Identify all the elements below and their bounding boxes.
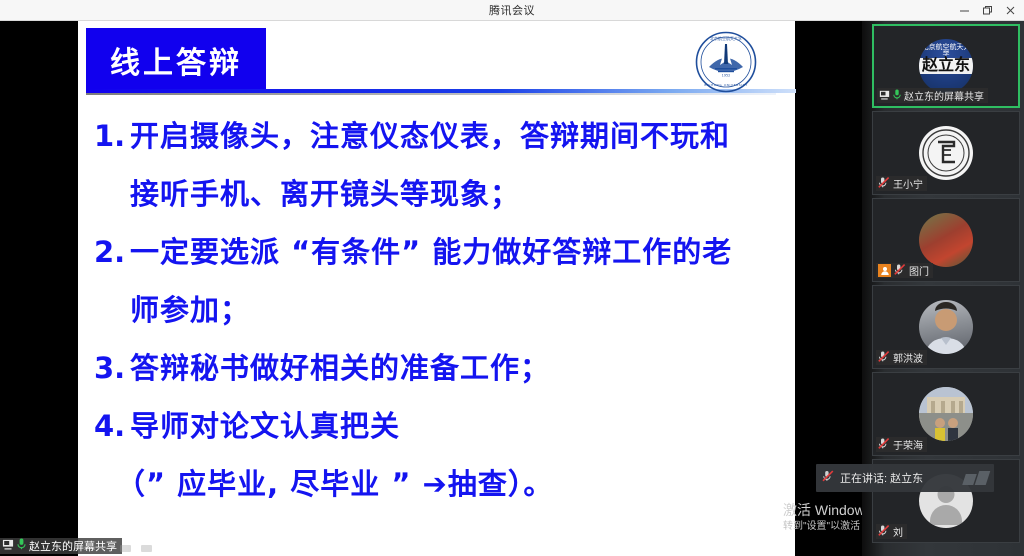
participant-name: 赵立东的屏幕共享 <box>904 88 984 103</box>
list-item-continuation: 接听手机、离开镜头等现象； <box>94 165 794 223</box>
list-item-continuation: 师参加； <box>94 281 794 339</box>
screen-share-label: 赵立东的屏幕共享 <box>0 538 122 554</box>
watermark-line-2: 转到"设置"以激活 Windows。 <box>783 519 862 534</box>
list-item-text: 开启摄像头，注意仪态仪表，答辩期间不玩和 <box>130 107 794 165</box>
list-item: 1. 开启摄像头，注意仪态仪表，答辩期间不玩和 <box>94 107 794 165</box>
list-item-number: 4. <box>94 397 130 455</box>
speaking-indicator-text: 正在讲话: 赵立东 <box>840 470 923 486</box>
audio-wave-icon <box>964 471 988 485</box>
window-title-bar: 腾讯会议 <box>0 0 1024 21</box>
participant-tile-wang-xiaoning[interactable]: 王小宁 <box>872 111 1020 195</box>
svg-text:北京航空航天大学: 北京航空航天大学 <box>710 35 742 41</box>
participant-name: 刘 <box>893 524 903 539</box>
window-title: 腾讯会议 <box>489 2 535 18</box>
mic-muted-icon <box>822 469 834 487</box>
participant-footer: 赵立东的屏幕共享 <box>877 88 988 103</box>
slide-closing-line: （” 应毕业, 尽毕业 ” ➔抽查）。 <box>94 455 794 513</box>
toolbar-ghost-item <box>141 545 152 552</box>
slide-body-list: 1. 开启摄像头，注意仪态仪表，答辩期间不玩和 接听手机、离开镜头等现象； 2.… <box>94 107 794 513</box>
toolbar-ghost-item <box>120 545 131 552</box>
slide-title: 线上答辩 <box>110 38 242 82</box>
avatar <box>919 387 973 441</box>
window-controls <box>953 0 1022 21</box>
participant-tile-yu-ronghai[interactable]: 于荣海 <box>872 372 1020 456</box>
slide-divider-shadow <box>86 93 776 95</box>
participant-footer: 于荣海 <box>876 437 927 452</box>
screen-share-owner-name: 赵立东的屏幕共享 <box>29 538 117 554</box>
minimize-button[interactable] <box>953 0 976 21</box>
participant-footer: 郭洪波 <box>876 350 927 365</box>
portrait-photo <box>919 300 973 354</box>
beihang-university-logo-icon: 1952 北京航空航天大学 BEIHANG UNIVERSITY <box>695 31 757 93</box>
close-button[interactable] <box>999 0 1022 21</box>
host-person-icon <box>880 266 890 276</box>
participant-tile-guo-hongbo[interactable]: 郭洪波 <box>872 285 1020 369</box>
mic-muted-icon <box>878 436 890 454</box>
avatar <box>919 213 973 267</box>
meeting-stage: 线上答辩 1952 北京航空航天大学 BEIHANG UNIVERSITY <box>0 21 1024 556</box>
list-item-number: 3. <box>94 339 130 397</box>
mic-muted-icon <box>878 349 890 367</box>
screen-share-icon <box>2 537 14 555</box>
participant-footer: 刘 <box>876 524 907 539</box>
restore-button[interactable] <box>976 0 999 21</box>
host-badge <box>878 264 891 277</box>
list-item: 2. 一定要选派 “有条件” 能力做好答辩工作的老 <box>94 223 794 281</box>
close-icon <box>1005 5 1016 16</box>
avatar <box>919 126 973 180</box>
windows-activation-watermark: 激活 Windows 转到"设置"以激活 Windows。 <box>783 501 862 534</box>
svg-text:BEIHANG UNIVERSITY: BEIHANG UNIVERSITY <box>704 83 747 87</box>
minimize-icon <box>959 5 970 16</box>
mic-muted-icon <box>894 262 906 280</box>
speaking-indicator-toast: 正在讲话: 赵立东 <box>816 464 994 492</box>
participant-name: 王小宁 <box>893 176 923 191</box>
mic-on-icon <box>893 87 901 105</box>
list-item-number: 2. <box>94 223 130 281</box>
avatar <box>919 300 973 354</box>
shared-screen-region[interactable]: 线上答辩 1952 北京航空航天大学 BEIHANG UNIVERSITY <box>0 21 862 556</box>
list-item-number: 1. <box>94 107 130 165</box>
list-item-text: 一定要选派 “有条件” 能力做好答辩工作的老 <box>130 223 794 281</box>
participant-footer: 图门 <box>876 263 933 278</box>
mic-on-icon <box>17 537 26 555</box>
list-item: 4. 导师对论文认真把关 <box>94 397 794 455</box>
participant-footer: 王小宁 <box>876 176 927 191</box>
participant-name: 于荣海 <box>893 437 923 452</box>
participant-tile-tumen[interactable]: 图门 <box>872 198 1020 282</box>
list-item-text: 答辩秘书做好相关的准备工作； <box>130 339 794 397</box>
participant-name: 图门 <box>909 263 929 278</box>
avatar-name: 赵立东 <box>919 58 973 74</box>
list-item: 3. 答辩秘书做好相关的准备工作； <box>94 339 794 397</box>
svg-text:1952: 1952 <box>722 74 731 78</box>
presentation-slide: 线上答辩 1952 北京航空航天大学 BEIHANG UNIVERSITY <box>78 21 795 556</box>
participant-rail[interactable]: 北京航空航天大学 赵立东 <box>862 21 1024 556</box>
screen-share-icon <box>879 87 890 105</box>
seal-avatar-icon <box>921 128 971 178</box>
slide-title-banner: 线上答辩 <box>86 28 266 91</box>
list-item-text: 导师对论文认真把关 <box>130 397 794 455</box>
share-toolbar-ghost <box>120 545 152 552</box>
portrait-photo <box>919 387 973 441</box>
avatar-caption: 北京航空航天大学 <box>919 44 973 58</box>
mic-muted-icon <box>878 175 890 193</box>
participant-name: 郭洪波 <box>893 350 923 365</box>
avatar: 北京航空航天大学 赵立东 <box>919 39 973 93</box>
mic-muted-icon <box>878 523 890 541</box>
watermark-line-1: 激活 Windows <box>783 501 862 519</box>
restore-icon <box>982 5 993 16</box>
participant-tile-zhao-lidong[interactable]: 北京航空航天大学 赵立东 <box>872 24 1020 108</box>
